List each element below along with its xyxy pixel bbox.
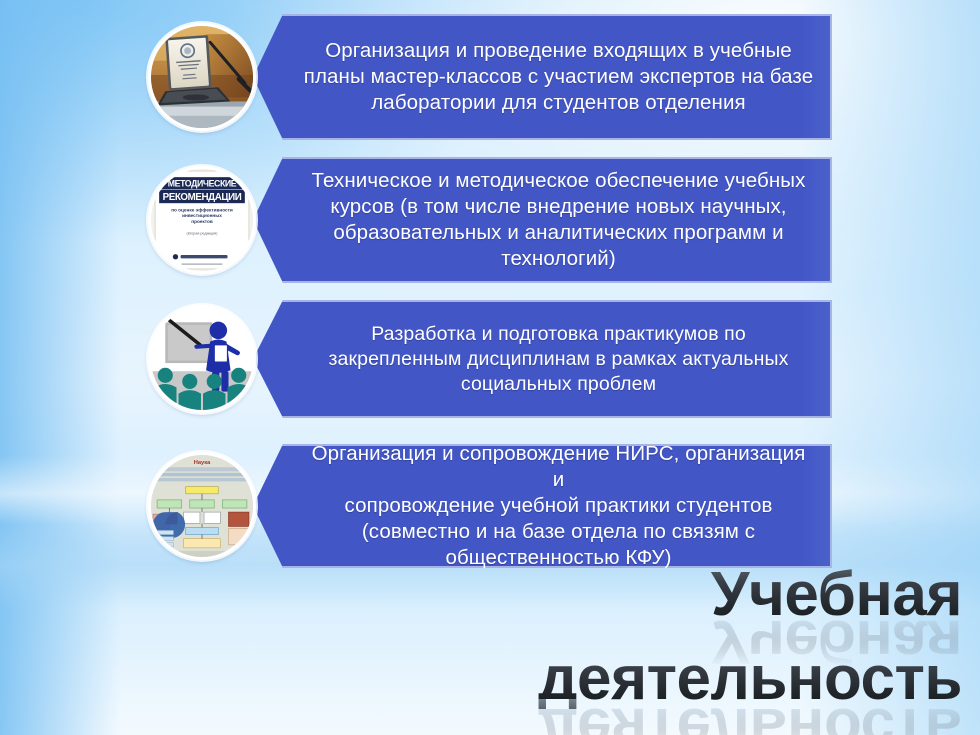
thumbnail-photo-laptop-certificate-on-desk[interactable] xyxy=(148,23,256,131)
svg-text:МЕТОДИЧЕСКИЕ: МЕТОДИЧЕСКИЕ xyxy=(168,179,237,189)
banner-inner: Организация и проведение входящих в учеб… xyxy=(253,38,832,116)
svg-text:РЕКОМЕНДАЦИИ: РЕКОМЕНДАЦИИ xyxy=(163,192,242,203)
photo-laptop-certificate-icon xyxy=(151,26,253,128)
slide-title-line-1-face: Учебная xyxy=(262,565,962,625)
thumbnail-clip xyxy=(151,26,253,128)
diagram-heading: Наука xyxy=(194,460,211,466)
thumbnail-clip: Наука xyxy=(151,455,253,557)
thumbnail-diagram-flowchart-colored[interactable]: Наука xyxy=(148,452,256,560)
banner-text: Техническое и методическое обеспечение у… xyxy=(303,168,814,272)
document-cover-icon: МЕТОДИЧЕСКИЕ РЕКОМЕНДАЦИИ по оценке эффе… xyxy=(151,169,253,271)
svg-text:по оценке эффективности: по оценке эффективности xyxy=(171,206,233,212)
flowchart-diagram-icon: Наука xyxy=(151,455,253,557)
svg-text:проектов: проектов xyxy=(191,219,213,224)
content-banner[interactable]: Техническое и методическое обеспечение у… xyxy=(253,157,832,283)
slide-canvas: Организация и проведение входящих в учеб… xyxy=(0,0,980,735)
banner-inner: Организация и сопровождение НИРС, органи… xyxy=(253,441,832,571)
banner-text: Организация и сопровождение НИРС, органи… xyxy=(303,441,814,571)
content-banner[interactable]: Организация и сопровождение НИРС, органи… xyxy=(253,444,832,568)
slide-title-line-2-face: деятельность xyxy=(262,649,962,709)
slide-title-line-1: Учебная Учебная xyxy=(262,565,962,625)
content-banner[interactable]: Разработка и подготовка практикумов по з… xyxy=(253,300,832,418)
banner-text: Разработка и подготовка практикумов по з… xyxy=(303,322,814,397)
svg-text:(вторая редакция): (вторая редакция) xyxy=(187,231,218,235)
content-row: Техническое и методическое обеспечение у… xyxy=(0,157,980,283)
thumbnail-clip: МЕТОДИЧЕСКИЕ РЕКОМЕНДАЦИИ по оценке эффе… xyxy=(151,169,253,271)
thumbnail-clip xyxy=(151,308,253,410)
banner-inner: Разработка и подготовка практикумов по з… xyxy=(253,322,832,397)
lecture-classroom-icon xyxy=(151,308,253,410)
banner-inner: Техническое и методическое обеспечение у… xyxy=(253,168,832,272)
content-row: Разработка и подготовка практикумов по з… xyxy=(0,300,980,418)
svg-text:инвестиционных: инвестиционных xyxy=(182,213,222,218)
content-banner[interactable]: Организация и проведение входящих в учеб… xyxy=(253,14,832,140)
slide-title-line-2: деятельность деятельность xyxy=(262,649,962,713)
content-row: Организация и проведение входящих в учеб… xyxy=(0,14,980,140)
content-row: Организация и сопровождение НИРС, органи… xyxy=(0,444,980,568)
thumbnail-icon-lecture-classroom[interactable] xyxy=(148,305,256,413)
slide-title: Учебная Учебная деятельность деятельност… xyxy=(262,565,962,713)
thumbnail-cover-methodical-recommendations[interactable]: МЕТОДИЧЕСКИЕ РЕКОМЕНДАЦИИ по оценке эффе… xyxy=(148,166,256,274)
banner-text: Организация и проведение входящих в учеб… xyxy=(303,38,814,116)
